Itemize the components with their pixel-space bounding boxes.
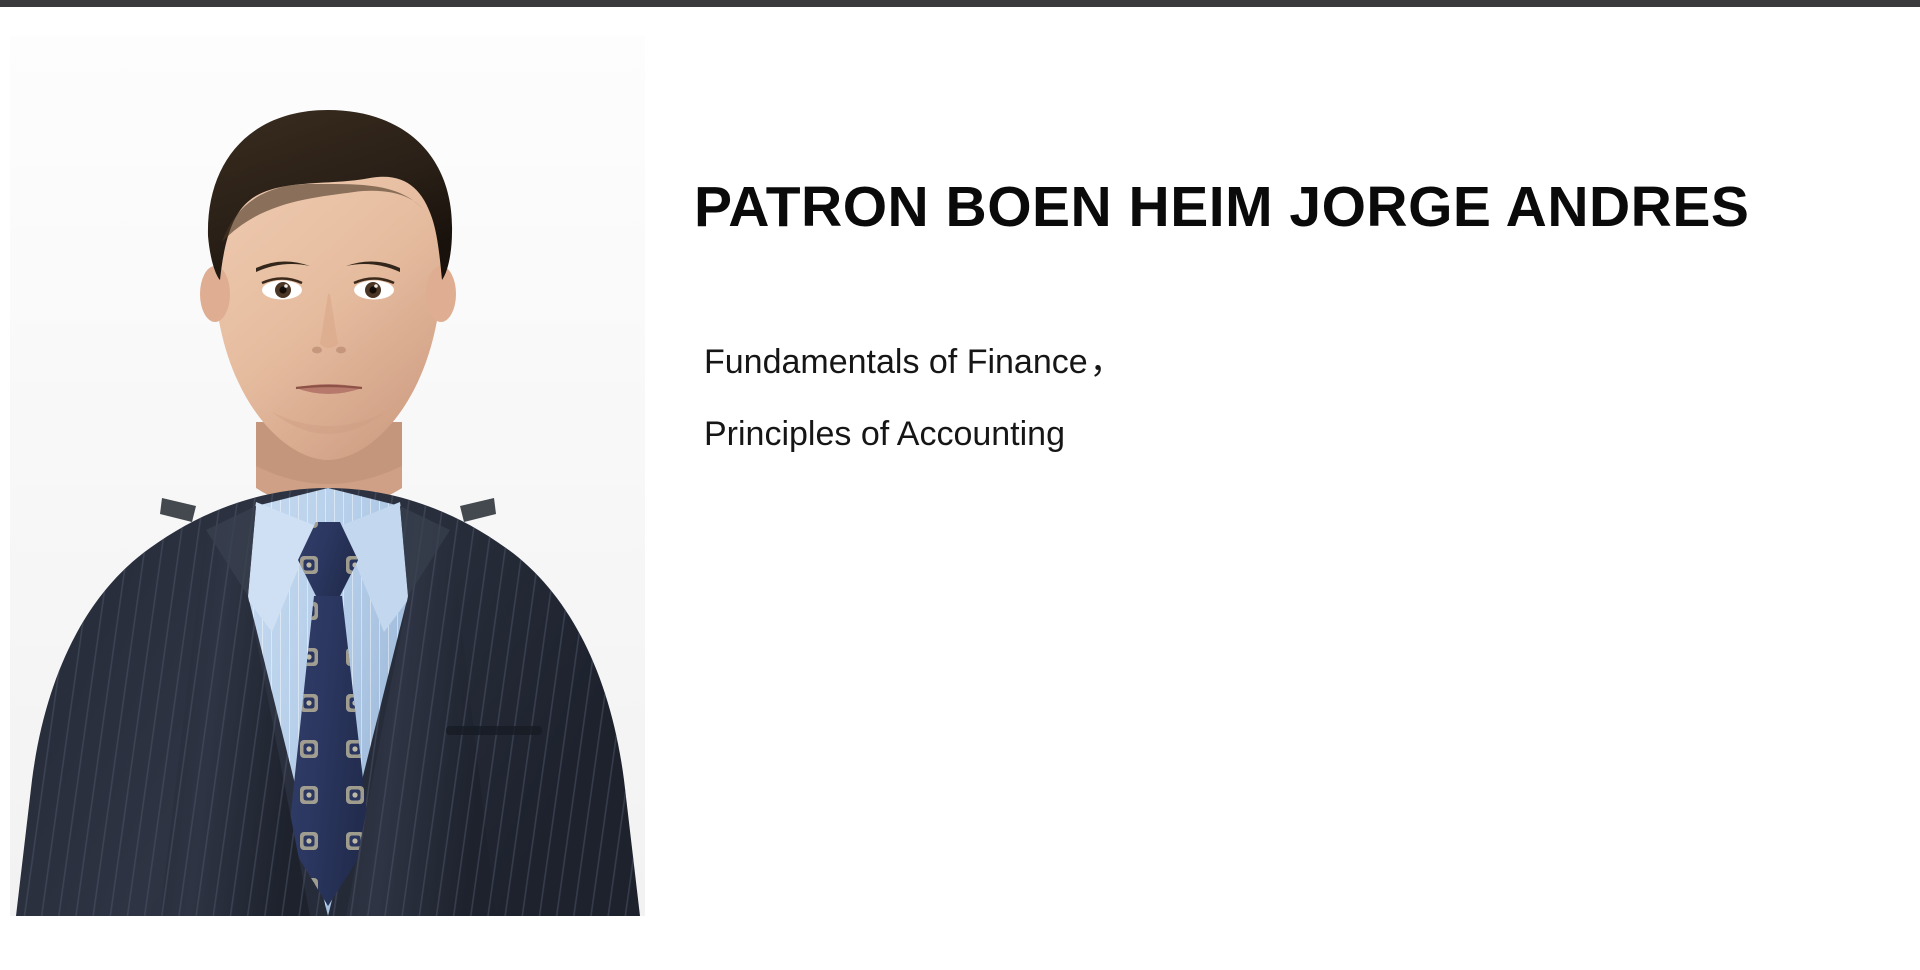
subject-line-1-separator: ，	[1088, 343, 1124, 381]
person-name: PATRON BOEN HEIM JORGE ANDRES	[694, 178, 1854, 238]
portrait-illustration	[10, 36, 645, 916]
portrait-photo	[10, 36, 645, 916]
subject-list: Fundamentals of Finance， Principles of A…	[704, 345, 1854, 451]
slide-root: PATRON BOEN HEIM JORGE ANDRES Fundamenta…	[0, 0, 1920, 970]
subject-line-2: Principles of Accounting	[704, 417, 1854, 451]
top-border-rule	[0, 0, 1920, 7]
text-column: PATRON BOEN HEIM JORGE ANDRES Fundamenta…	[694, 178, 1854, 451]
subject-line-1-text: Fundamentals of Finance	[704, 343, 1088, 381]
subject-line-1: Fundamentals of Finance，	[704, 345, 1854, 379]
